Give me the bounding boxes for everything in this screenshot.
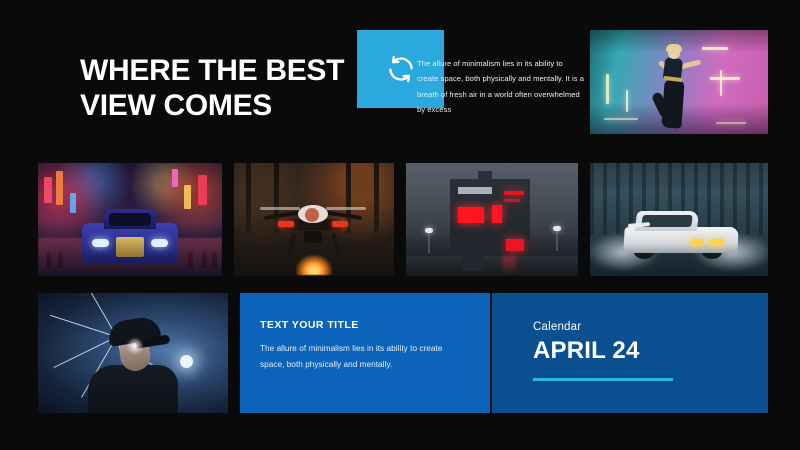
text-panel-body: The allure of minimalism lies in its abi… [260,341,465,374]
neon-bar-icon [702,47,728,50]
gallery-image-drone-forest-fire[interactable] [234,163,394,276]
gallery-image-red-lit-building-fog[interactable] [406,163,578,276]
gallery-image-blue-luxury-car-neon-street[interactable] [38,163,222,276]
text-panel: TEXT YOUR TITLE The allure of minimalism… [240,293,490,413]
sync-refresh-icon [386,54,416,84]
neon-bar-icon [606,74,609,104]
gallery-image-white-car-drifting-forest[interactable] [590,163,768,276]
neon-bar-icon [626,90,628,112]
headline-line-1: WHERE THE BEST [80,53,380,88]
light-flare-icon [180,355,193,368]
calendar-label: Calendar [533,321,581,333]
person-figure [86,319,178,413]
luxury-car-figure [82,209,178,265]
dancer-figure [652,46,698,130]
text-panel-title: TEXT YOUR TITLE [260,319,359,331]
calendar-underline-rule [533,378,673,381]
page-title: WHERE THE BEST VIEW COMES [80,53,380,124]
drifting-car-figure [624,211,738,259]
intro-paragraph: The allure of minimalism lies in its abi… [417,56,585,118]
calendar-panel: Calendar APRIL 24 [492,293,768,413]
neon-bar-icon [604,118,638,120]
neon-bar-icon [716,122,746,124]
gallery-image-person-behind-cracked-glass[interactable] [38,293,228,413]
ember-fire-glow [296,255,332,275]
drone-figure [264,195,364,255]
foggy-road [406,256,578,276]
headline-line-2: VIEW COMES [80,88,380,123]
neon-bar-icon [710,77,740,80]
calendar-date: APRIL 24 [533,337,640,365]
gallery-image-dancer-neon-room[interactable] [590,30,768,134]
presentation-slide: WHERE THE BEST VIEW COMES The allure of … [0,0,800,450]
neon-bar-icon [720,70,722,96]
